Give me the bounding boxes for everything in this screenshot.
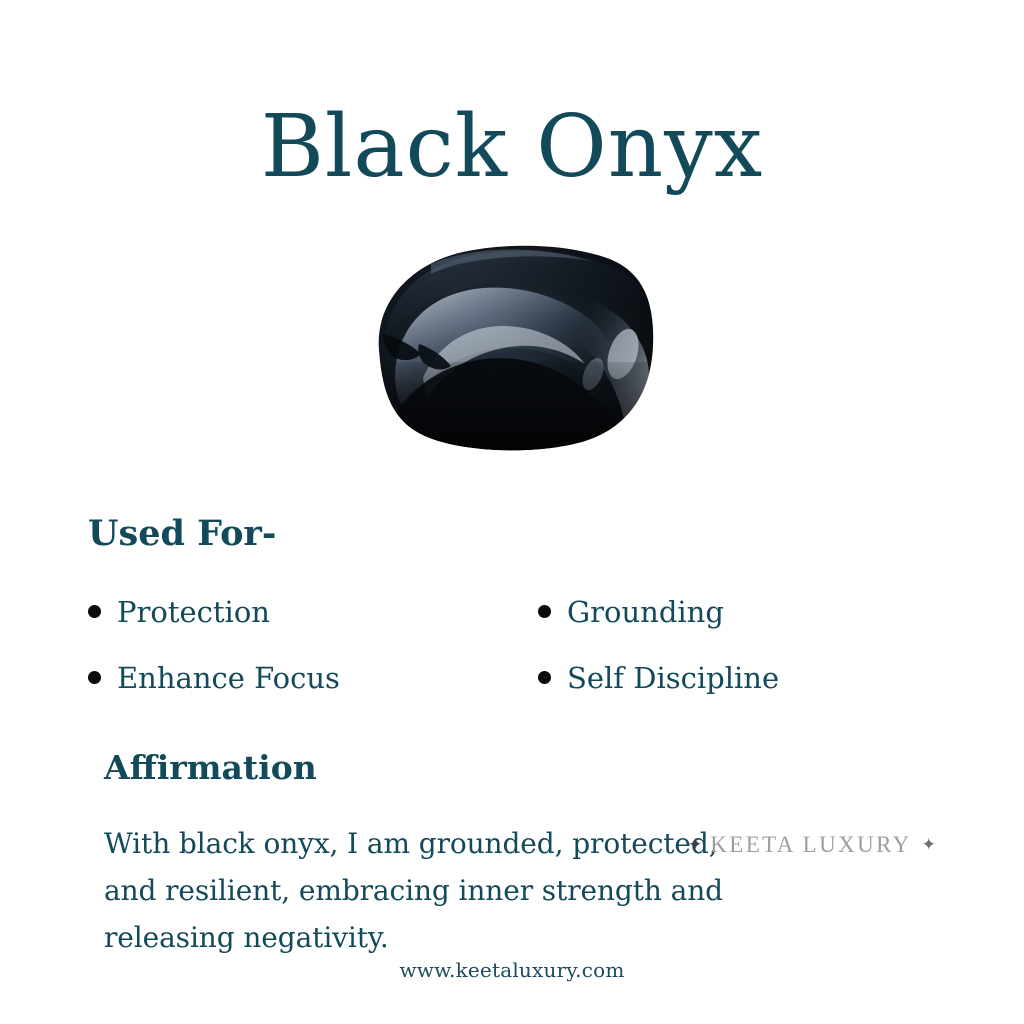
affirmation-heading: Affirmation: [104, 748, 317, 788]
bullet-dot-icon: [88, 671, 101, 684]
affirmation-text: With black onyx, I am grounded, protecte…: [104, 820, 774, 961]
gemstone-image: [371, 242, 657, 454]
list-item-label: Enhance Focus: [117, 664, 340, 693]
black-onyx-stone-icon: [371, 242, 657, 454]
used-for-heading: Used For-: [88, 513, 276, 555]
list-item: Protection: [88, 598, 538, 627]
footer-website-url[interactable]: www.keetaluxury.com: [0, 958, 1024, 982]
page-title: Black Onyx: [0, 104, 1024, 190]
infographic-card: Black Onyx: [0, 0, 1024, 1024]
list-item: Self Discipline: [538, 664, 968, 693]
diamond-icon: ✦: [922, 835, 936, 855]
bullet-dot-icon: [538, 605, 551, 618]
list-item-label: Self Discipline: [567, 664, 779, 693]
list-item: Grounding: [538, 598, 968, 627]
list-item-label: Protection: [117, 598, 270, 627]
bullet-dot-icon: [88, 605, 101, 618]
bullet-dot-icon: [538, 671, 551, 684]
used-for-list: Protection Grounding Enhance Focus Self …: [88, 598, 968, 730]
list-item: Enhance Focus: [88, 664, 538, 693]
list-item-label: Grounding: [567, 598, 724, 627]
